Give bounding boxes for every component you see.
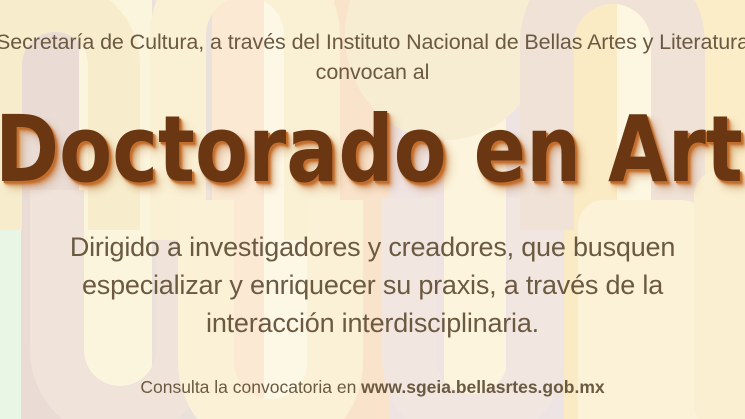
footer-prefix: Consulta la convocatoria en: [140, 377, 361, 397]
intro-line-1: Secretaría de Cultura, a través del Inst…: [0, 30, 745, 54]
poster-content: Secretaría de Cultura, a través del Inst…: [0, 0, 745, 419]
footer-line: Consulta la convocatoria en www.sgeia.be…: [0, 375, 745, 399]
poster-canvas: Secretaría de Cultura, a través del Inst…: [0, 0, 745, 419]
intro-line-2: convocan al: [0, 57, 745, 87]
description-text: Dirigido a investigadores y creadores, q…: [0, 228, 745, 342]
description-line-3: interacción interdisciplinaria.: [0, 304, 745, 342]
description-line-1: Dirigido a investigadores y creadores, q…: [0, 228, 745, 266]
description-line-2: especializar y enriquecer su praxis, a t…: [0, 266, 745, 304]
intro-text: Secretaría de Cultura, a través del Inst…: [0, 27, 745, 87]
convocatoria-url[interactable]: www.sgeia.bellasrtes.gob.mx: [361, 377, 604, 397]
poster-title: Doctorado en Artes: [0, 104, 745, 196]
